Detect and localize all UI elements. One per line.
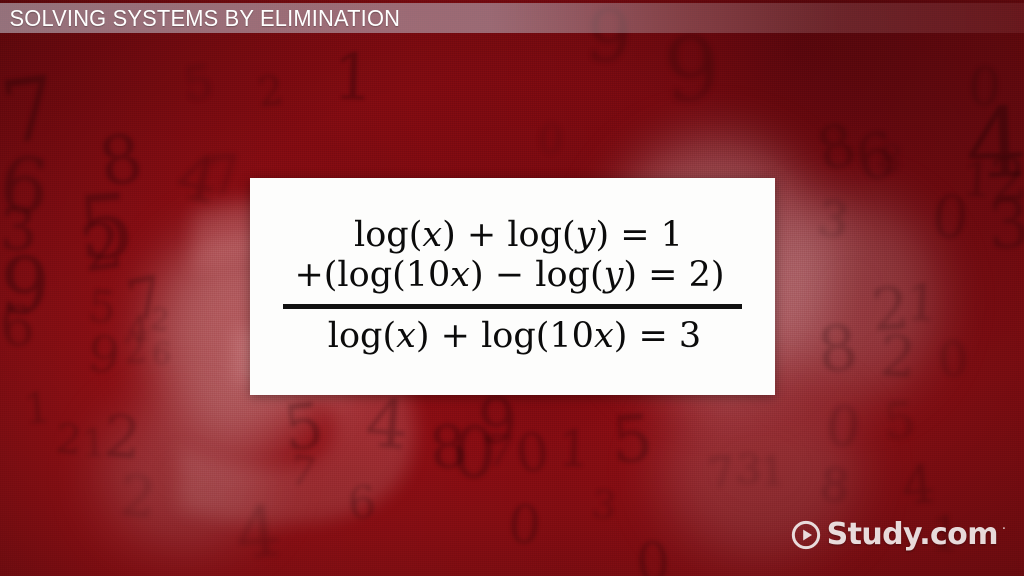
equation-line-2-variable-y: y [604,255,624,295]
equation-result-variable-x-2: x [594,316,614,356]
equation-line-1-part-2: ) + log( [442,215,576,255]
equation-result-part-0: log( [328,316,396,356]
slide-title: SOLVING SYSTEMS BY ELIMINATION [0,5,400,32]
equation-line-1-part-4: ) = 1 [595,215,683,255]
study-com-logo[interactable]: Study.com · [791,520,1006,550]
equation-result-part-4: ) = 3 [614,316,702,356]
slide-title-bar: SOLVING SYSTEMS BY ELIMINATION [0,3,1024,33]
equation-line-2-part-2: ) − log( [470,255,604,295]
equation-line-1-variable-x: x [422,215,442,255]
logo-trademark-dot: · [1002,522,1006,537]
equation-line-1: log(x) + log(y) = 1 [354,217,683,255]
equation-result-variable-x-1: x [396,316,416,356]
equation-line-2: +(log(10x) − log(y) = 2) [294,257,724,295]
equation-result-line: log(x) + log(10x) = 3 [328,318,701,356]
slide-canvas: 3 71299865473297542692612125764809701500… [0,0,1024,576]
equation-line-2-part-4: ) = 2) [623,255,724,295]
equation-result-part-2: ) + log(10 [416,316,594,356]
equation-card: log(x) + log(y) = 1 +(log(10x) − log(y) … [250,178,775,395]
equation-line-2-part-0: +(log(10 [294,255,450,295]
play-circle-icon [791,520,821,550]
equation-sum-rule [283,304,742,309]
equation-line-1-variable-y: y [576,215,596,255]
logo-wordmark: Study.com [827,520,998,550]
equation-line-1-part-0: log( [354,215,422,255]
equation-line-2-variable-x: x [450,255,470,295]
